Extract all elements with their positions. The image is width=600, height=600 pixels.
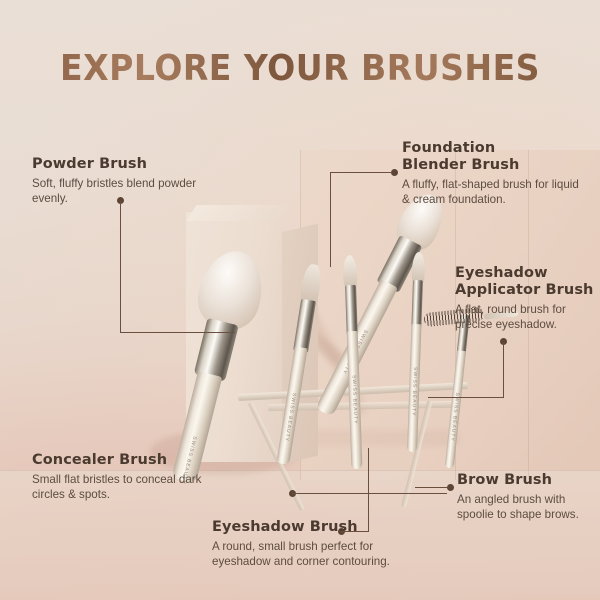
callout-powder-description: Soft, fluffy bristles blend powder evenl… <box>32 176 207 207</box>
leader-powder-horizontal <box>120 332 235 333</box>
callout-eyeshadow-applicator-brush[interactable]: Eyeshadow Applicator Brush A flat, round… <box>455 265 595 332</box>
callout-concealer-title: Concealer Brush <box>32 452 232 469</box>
applicator-ferrule <box>411 280 423 328</box>
callout-eyeshadow-title: Eyeshadow Brush <box>212 519 412 536</box>
callout-foundation-title-line1: Foundation <box>402 140 582 157</box>
callout-concealer-description: Small flat bristles to conceal dark circ… <box>32 472 232 503</box>
leader-concealer-horizontal <box>292 493 447 494</box>
callout-applicator-title-line2: Applicator Brush <box>455 282 595 299</box>
leader-foundation-vertical <box>330 172 331 267</box>
display-box-top <box>186 205 293 221</box>
leader-applicator-horizontal <box>428 397 504 398</box>
callout-brow-title: Brow Brush <box>457 472 597 489</box>
infographic-poster: SWISS BEAUTY SWISS BEAUTY SWISS BEAUTY S… <box>0 0 600 600</box>
leader-foundation-horizontal <box>330 172 392 173</box>
page-title: EXPLORE YOUR BRUSHES <box>24 48 576 89</box>
callout-eyeshadow-brush[interactable]: Eyeshadow Brush A round, small brush per… <box>212 519 412 570</box>
callout-applicator-description: A flat, round brush for precise eyeshado… <box>455 302 595 333</box>
eyeshadow-ferrule <box>345 285 358 335</box>
powder-bristles <box>192 244 271 335</box>
callout-brow-brush[interactable]: Brow Brush An angled brush with spoolie … <box>457 472 597 523</box>
callout-powder-title: Powder Brush <box>32 156 207 173</box>
callout-applicator-title-line1: Eyeshadow <box>455 265 595 282</box>
concealer-ferrule <box>293 299 316 353</box>
leader-brow-horizontal <box>415 487 449 488</box>
callout-brow-description: An angled brush with spoolie to shape br… <box>457 492 597 523</box>
leader-powder-vertical <box>120 201 121 333</box>
callout-concealer-brush[interactable]: Concealer Brush Small flat bristles to c… <box>32 452 232 503</box>
callout-powder-brush[interactable]: Powder Brush Soft, fluffy bristles blend… <box>32 156 207 207</box>
callout-eyeshadow-description: A round, small brush perfect for eyeshad… <box>212 539 412 570</box>
callout-foundation-blender-brush[interactable]: Foundation Blender Brush A fluffy, flat-… <box>402 140 582 207</box>
callout-foundation-description: A fluffy, flat-shaped brush for liquid &… <box>402 177 582 208</box>
callout-foundation-title-line2: Blender Brush <box>402 157 582 174</box>
leader-dot-foundation <box>391 169 398 176</box>
leader-applicator-vertical <box>503 342 504 398</box>
